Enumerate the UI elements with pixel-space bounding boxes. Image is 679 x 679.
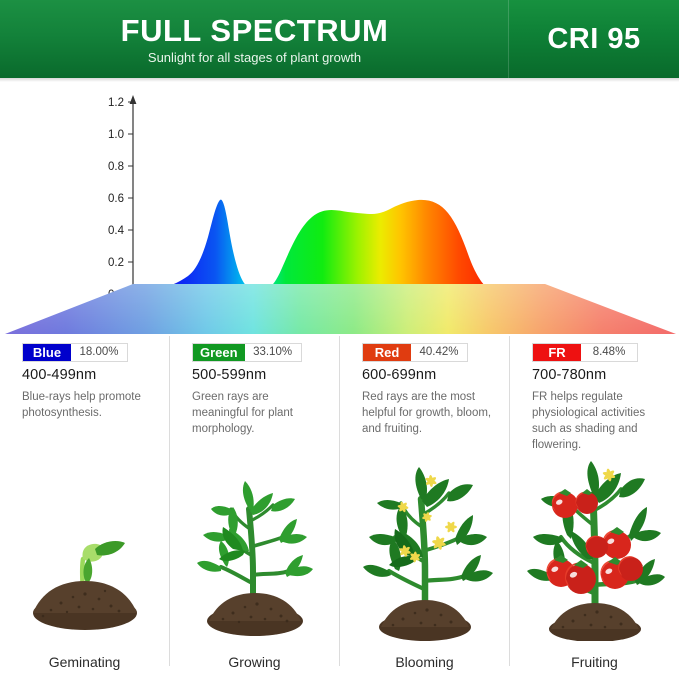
soil-top bbox=[33, 581, 137, 613]
y-axis-arrow bbox=[130, 95, 137, 104]
band-columns: Blue 18.00% 400-499nm Blue-rays help pro… bbox=[0, 336, 679, 679]
band-badge-blue: Blue 18.00% bbox=[22, 343, 128, 362]
stage-art-growing bbox=[170, 451, 339, 641]
band-badge-green: Green 33.10% bbox=[192, 343, 302, 362]
stage-art-geminating bbox=[0, 451, 169, 641]
band-column-red: Red 40.42% 600-699nm Red rays are the mo… bbox=[340, 336, 509, 679]
band-name-blue: Blue bbox=[23, 344, 71, 361]
infographic-page: FULL SPECTRUM Sunlight for all stages of… bbox=[0, 0, 679, 679]
band-range-green: 500-599nm bbox=[192, 367, 266, 383]
plant-blooming bbox=[363, 467, 493, 641]
y-tick-2: 0.4 bbox=[108, 225, 125, 237]
spectrum-curve-fill bbox=[133, 92, 545, 297]
stage-art-blooming bbox=[340, 451, 509, 641]
stage-label-blooming: Blooming bbox=[340, 654, 509, 670]
band-percent-fr: 8.48% bbox=[581, 344, 637, 361]
band-column-blue: Blue 18.00% 400-499nm Blue-rays help pro… bbox=[0, 336, 169, 679]
header-banner: FULL SPECTRUM Sunlight for all stages of… bbox=[0, 0, 679, 78]
band-description-red: Red rays are the most helpful for growth… bbox=[362, 389, 495, 437]
plant-growing bbox=[197, 481, 313, 636]
band-badge-red: Red 40.42% bbox=[362, 343, 468, 362]
band-description-fr: FR helps regulate physiological activiti… bbox=[532, 389, 665, 453]
stage-label-fruiting: Fruiting bbox=[510, 654, 679, 670]
fan-beam-fade bbox=[5, 284, 676, 334]
band-badge-fr: FR 8.48% bbox=[532, 343, 638, 362]
band-name-red: Red bbox=[363, 344, 411, 361]
band-range-blue: 400-499nm bbox=[22, 367, 96, 383]
y-tick-3: 0.6 bbox=[108, 193, 124, 205]
page-title: FULL SPECTRUM bbox=[0, 13, 509, 49]
band-name-fr: FR bbox=[533, 344, 581, 361]
band-column-green: Green 33.10% 500-599nm Green rays are me… bbox=[170, 336, 339, 679]
plant-fruiting bbox=[527, 461, 665, 641]
stage-label-growing: Growing bbox=[170, 654, 339, 670]
y-tick-4: 0.8 bbox=[108, 161, 124, 173]
band-column-fr: FR 8.48% 700-780nm FR helps regulate phy… bbox=[510, 336, 679, 679]
y-tick-1: 0.2 bbox=[108, 257, 124, 269]
band-description-blue: Blue-rays help promote photosynthesis. bbox=[22, 389, 155, 421]
band-range-fr: 700-780nm bbox=[532, 367, 606, 383]
band-percent-red: 40.42% bbox=[411, 344, 467, 361]
band-range-red: 600-699nm bbox=[362, 367, 436, 383]
page-subtitle: Sunlight for all stages of plant growth bbox=[0, 50, 509, 66]
light-fan-graphic bbox=[0, 284, 679, 336]
y-tick-5: 1.0 bbox=[108, 129, 124, 141]
band-percent-green: 33.10% bbox=[245, 344, 301, 361]
stage-art-fruiting bbox=[510, 451, 679, 641]
band-name-green: Green bbox=[193, 344, 245, 361]
y-axis-ticks: 0.0 0.2 0.4 0.6 0.8 1.0 1.2 bbox=[108, 97, 133, 301]
band-percent-blue: 18.00% bbox=[71, 344, 127, 361]
sprout-leaf-right bbox=[95, 541, 125, 556]
band-description-green: Green rays are meaningful for plant morp… bbox=[192, 389, 325, 437]
stage-label-geminating: Geminating bbox=[0, 654, 169, 670]
cri-badge: CRI 95 bbox=[509, 20, 679, 58]
y-tick-6: 1.2 bbox=[108, 97, 124, 109]
